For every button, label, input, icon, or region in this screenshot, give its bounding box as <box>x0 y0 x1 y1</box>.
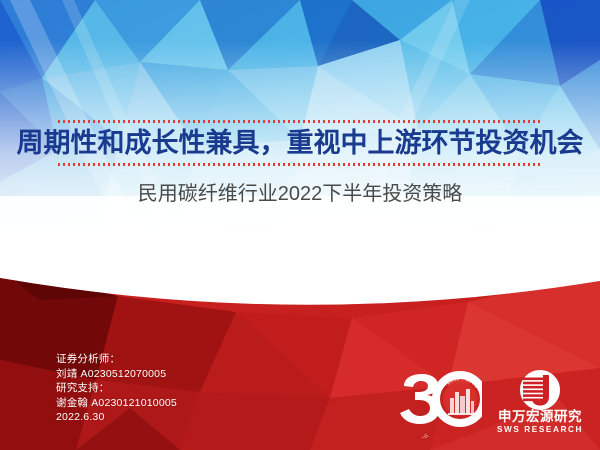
report-date: 2022.6.30 <box>56 410 177 425</box>
analyst-name-license: 刘靖 A0230512070005 <box>56 367 177 382</box>
title-rule-top <box>58 120 542 123</box>
page-title: 周期性和成长性兼具，重视中上游环节投资机会 <box>0 124 600 162</box>
analyst-label: 证券分析师： <box>56 352 177 367</box>
sws-wordmark-en: SWS RESEARCH <box>497 425 583 434</box>
sws-mark <box>521 371 559 409</box>
logo-group: 1992 - 2022 三十而立 再出发 <box>398 368 588 438</box>
support-name-license: 谢金翰 A0230121010005 <box>56 396 177 411</box>
analyst-credits: 证券分析师： 刘靖 A0230512070005 研究支持： 谢金翰 A0230… <box>56 352 177 425</box>
page-subtitle: 民用碳纤维行业2022下半年投资策略 <box>0 180 600 208</box>
presentation-cover-slide: 周期性和成长性兼具，重视中上游环节投资机会 民用碳纤维行业2022下半年投资策略… <box>0 0 600 450</box>
sws-research-logo: 申万宏源研究 SWS RESEARCH <box>492 368 588 438</box>
title-rule-bottom <box>58 163 542 166</box>
anniversary-30-logo: 1992 - 2022 三十而立 再出发 <box>398 368 482 438</box>
anniversary-bottom-text: 三十而立 再出发 <box>420 433 468 438</box>
sws-wordmark-cn: 申万宏源研究 <box>498 408 582 424</box>
support-label: 研究支持： <box>56 381 177 396</box>
